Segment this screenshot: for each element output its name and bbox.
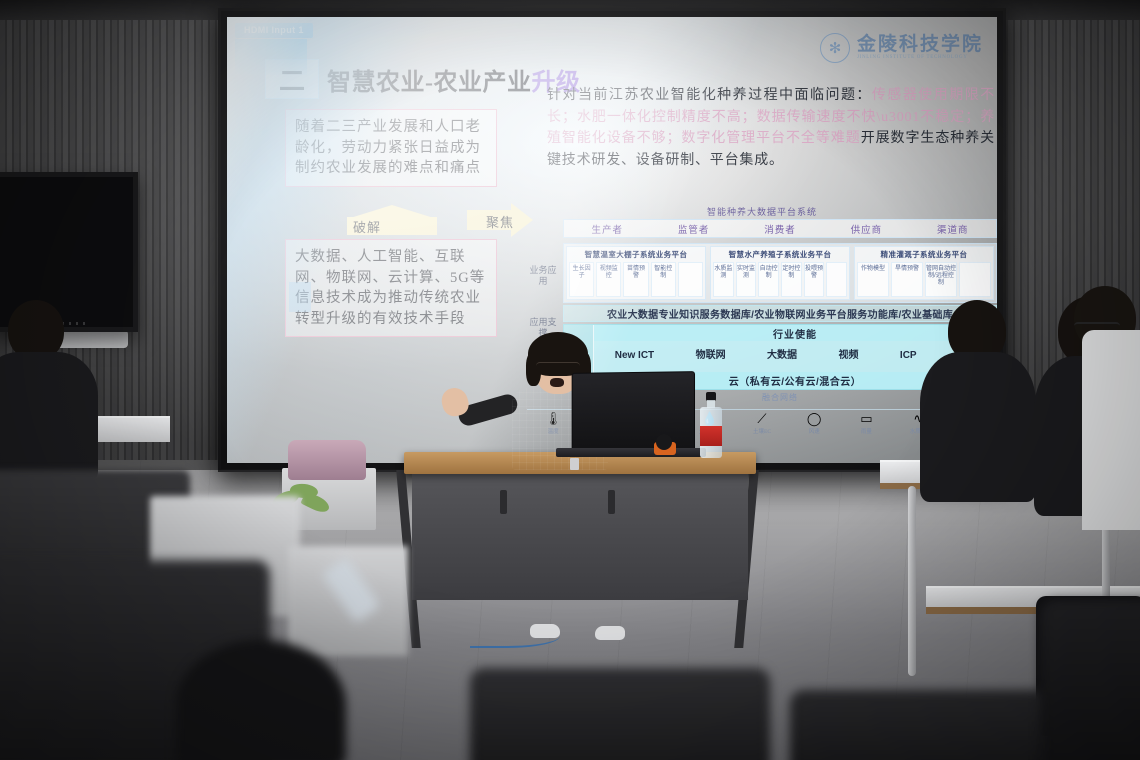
side-label-business: 业务应用 — [527, 265, 559, 288]
subsystem-cell: 自动控制 — [758, 262, 779, 297]
enablement-item: ICP — [900, 351, 917, 362]
subsystem-cell: 管网自动控制/远程控制 — [925, 262, 957, 297]
foreground-chair-blur-far-right — [1040, 600, 1140, 760]
subsystem-cell — [678, 262, 703, 297]
subsystem-cell: 投喂预警 — [804, 262, 825, 297]
objective-paragraph: 针对当前江苏农业智能化种养过程中面临问题：传感器使用期限不长；水肥一体化控制精度… — [547, 85, 995, 172]
sensor-label: 土壤EC — [753, 427, 771, 435]
diagram-title: 智能种养大数据平台系统 — [527, 205, 997, 218]
foreground-chair-blur-mid — [176, 640, 346, 760]
enablement-item: 物联网 — [696, 351, 726, 362]
student-body — [0, 352, 98, 482]
technology-box: 大数据、人工智能、互联网、物联网、云计算、5G等信息技术成为推动传统农业转型升级… — [285, 239, 497, 337]
enablement-item: 大数据 — [767, 351, 797, 362]
subsystem-cell: 生长因子 — [569, 262, 594, 297]
subsystem-cell — [959, 262, 991, 297]
desk-support-pipe — [908, 486, 916, 676]
role-item: 监管者 — [678, 222, 710, 236]
right-arrow-label: 聚焦 — [486, 212, 514, 231]
role-item: 供应商 — [851, 222, 883, 236]
subsystem-cell: 视频监控 — [596, 262, 621, 297]
glasses-icon — [1074, 322, 1120, 332]
handheld-microphone[interactable] — [656, 434, 678, 456]
university-logo: ✻ 金陵科技学院 JINLING INSTITUTE OF TECHNOLOGY — [820, 33, 983, 63]
laptop-base[interactable] — [556, 448, 706, 457]
stakeholder-roles-row: 生产者 监管者 消费者 供应商 渠道商 — [563, 219, 997, 238]
subsystem-aquaculture: 智慧水产养殖子系统业务平台 水质监测 实时监测 自动控制 定时控制 投喂预警 — [710, 246, 850, 300]
lecturer-shoe-left — [530, 624, 560, 638]
subsystem-cell: 作物模型 — [857, 262, 889, 297]
hdmi-secondary-glow — [289, 282, 311, 312]
role-item: 消费者 — [764, 222, 796, 236]
slide-title: 智慧农业-农业产业升级 — [327, 62, 581, 97]
subsystem-cell: 旱情预警 — [891, 262, 923, 297]
name-badge — [570, 458, 579, 470]
problem-statement-box: 随着二三产业发展和人口老龄化，劳动力紧张日益成为制约农业发展的难点和痛点 — [285, 109, 497, 187]
role-item: 生产者 — [591, 222, 623, 236]
crane-icon: ✻ — [820, 33, 850, 63]
student-body — [920, 352, 1036, 502]
subsystem-cell — [826, 262, 847, 297]
lecture-desk-front — [412, 472, 748, 600]
hdmi-input-badge: HDMI Input 1 — [235, 23, 313, 38]
subsystem-cells: 生长因子 视频监控 苗情预警 智能控制 — [567, 261, 705, 299]
logo-name-cn: 金陵科技学院 — [857, 35, 983, 55]
up-arrow-shape — [319, 205, 463, 235]
subsystem-platforms-row: 智慧温室大棚子系统业务平台 生长因子 视频监控 苗情预警 智能控制 智慧水产养殖… — [563, 243, 997, 303]
up-arrow-label: 破解 — [353, 217, 381, 236]
lecturer-shoe-right — [595, 626, 625, 640]
subsystem-title: 智慧温室大棚子系统业务平台 — [567, 247, 705, 261]
subsystem-cell: 智能控制 — [651, 262, 676, 297]
classroom-scene: HDMI Input 1 二 智慧农业-农业产业升级 ✻ 金陵科技学院 JINL… — [0, 0, 1140, 760]
hdmi-badge-glow — [235, 39, 307, 75]
student-white-sleeve — [1082, 330, 1140, 530]
water-bottle — [700, 392, 722, 458]
lecturer-mouth — [550, 378, 564, 387]
slide-title-main: 智慧农业-农业产业 — [327, 70, 532, 96]
subsystem-cell: 苗情预警 — [623, 262, 648, 297]
student-head — [8, 300, 64, 360]
enablement-item: New ICT — [615, 351, 654, 362]
subsystem-cells: 作物模型 旱情预警 管网自动控制/远程控制 — [855, 261, 993, 299]
subsystem-cell: 定时控制 — [781, 262, 802, 297]
paragraph-lead: 针对当前江苏农业智能化种养过程中面临问题： — [547, 88, 872, 103]
glasses-icon — [536, 362, 580, 372]
logo-names: 金陵科技学院 JINLING INSTITUTE OF TECHNOLOGY — [857, 35, 983, 60]
subsystem-cell: 水质监测 — [713, 262, 734, 297]
logo-name-en: JINLING INSTITUTE OF TECHNOLOGY — [857, 55, 983, 60]
student-left — [0, 300, 104, 480]
subsystem-irrigation: 精准灌溉子系统业务平台 作物模型 旱情预警 管网自动控制/远程控制 — [854, 246, 994, 300]
sensor-label: 雨量 — [861, 427, 872, 435]
foreground-chair-blur-center — [470, 668, 770, 760]
subsystem-greenhouse: 智慧温室大棚子系统业务平台 生长因子 视频监控 苗情预警 智能控制 — [566, 246, 706, 300]
foreground-chair-blur-right — [790, 690, 1050, 760]
role-item: 渠道商 — [937, 222, 969, 236]
enablement-item: 视频 — [838, 351, 858, 362]
subsystem-cell: 实时监测 — [736, 262, 757, 297]
subsystem-title: 精准灌溉子系统业务平台 — [855, 247, 993, 261]
sensor-label: 风速 — [809, 427, 820, 435]
student-front-right — [918, 300, 1038, 500]
subsystem-title: 智慧水产养殖子系统业务平台 — [711, 247, 849, 261]
subsystem-cells: 水质监测 实时监测 自动控制 定时控制 投喂预警 — [711, 261, 849, 299]
bag-on-table — [288, 440, 366, 480]
